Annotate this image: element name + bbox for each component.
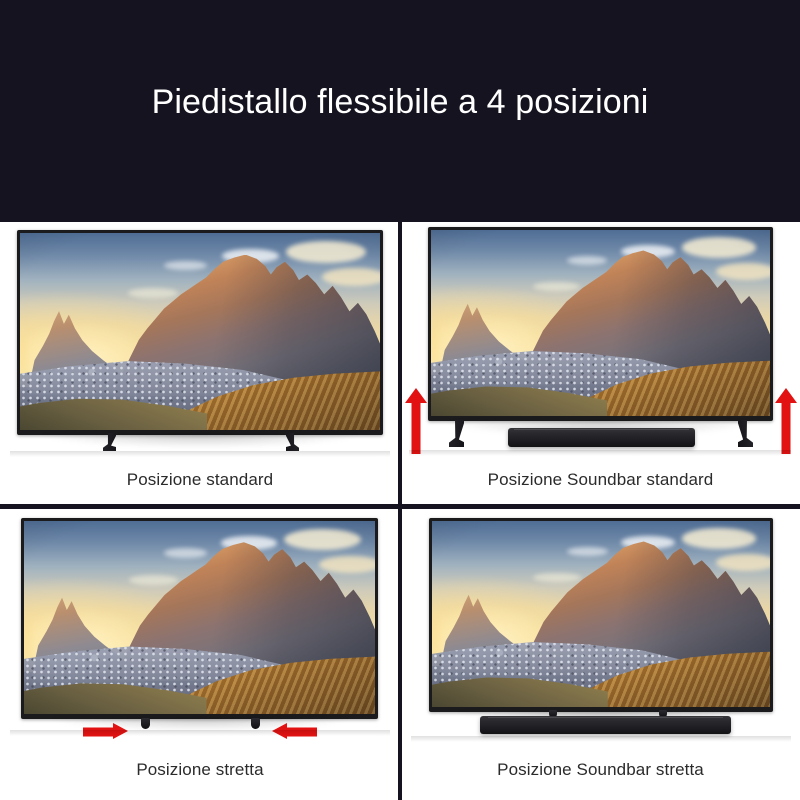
panel-standard: Posizione standard xyxy=(0,222,400,505)
panel-soundbar-standard: Posizione Soundbar standard xyxy=(401,222,800,505)
screen-image-mountain-sunset xyxy=(431,230,770,416)
panel-soundbar-narrow: Posizione Soundbar stretta xyxy=(401,508,800,800)
stand-foot-left-narrow xyxy=(141,718,150,729)
header-banner: Piedistallo flessibile a 4 posizioni xyxy=(0,0,800,222)
tv-screen xyxy=(432,521,770,707)
tv-screen xyxy=(24,521,375,714)
panel-narrow: Posizione stretta xyxy=(0,508,400,800)
caption-soundbar-standard: Posizione Soundbar standard xyxy=(401,470,800,490)
shelf-surface xyxy=(10,730,390,736)
product-feature-graphic: Piedistallo flessibile a 4 posizioni xyxy=(0,0,800,800)
tv-soundbar-standard xyxy=(428,227,773,421)
divider-horizontal xyxy=(0,504,800,509)
tv-screen xyxy=(20,233,380,430)
shelf-surface xyxy=(409,450,791,456)
panel-grid: Posizione standard xyxy=(0,222,800,800)
soundbar xyxy=(508,428,695,447)
arrow-up-left-icon xyxy=(405,388,427,454)
divider-vertical xyxy=(398,222,402,800)
shelf-surface xyxy=(10,451,390,457)
soundbar xyxy=(480,716,731,734)
shelf-surface xyxy=(411,736,791,742)
screen-image-mountain-sunset xyxy=(20,233,380,430)
caption-narrow: Posizione stretta xyxy=(0,760,400,780)
caption-standard: Posizione standard xyxy=(0,470,400,490)
arrow-up-right-icon xyxy=(775,388,797,454)
tv-narrow xyxy=(21,518,378,719)
page-title: Piedistallo flessibile a 4 posizioni xyxy=(152,83,649,122)
tv-soundbar-narrow xyxy=(429,518,773,712)
tv-screen xyxy=(431,230,770,416)
caption-soundbar-narrow: Posizione Soundbar stretta xyxy=(401,760,800,780)
stand-foot-right-narrow xyxy=(251,718,260,729)
screen-image-mountain-sunset xyxy=(432,521,770,707)
tv-shadow xyxy=(40,434,360,448)
tv-standard xyxy=(17,230,383,435)
screen-image-mountain-sunset xyxy=(24,521,375,714)
